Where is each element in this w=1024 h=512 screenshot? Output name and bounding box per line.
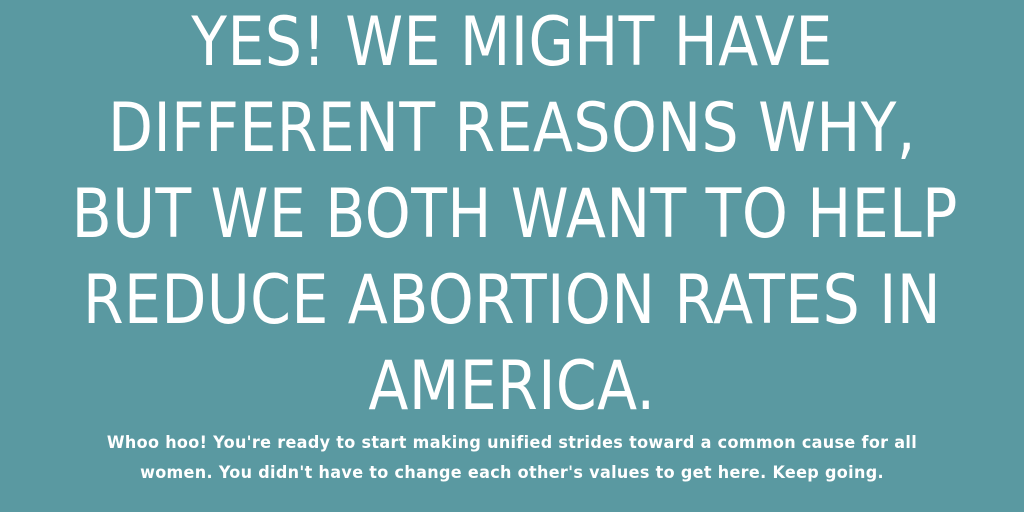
headline-line-1: YES! WE MIGHT HAVE [72,0,953,86]
quote-card: YES! WE MIGHT HAVE DIFFERENT REASONS WHY… [0,0,1024,512]
headline-line-5: AMERICA. [72,344,953,430]
headline-line-3: BUT WE BOTH WANT TO HELP [72,172,953,258]
headline-line-2: DIFFERENT REASONS WHY, [72,86,953,172]
headline: YES! WE MIGHT HAVE DIFFERENT REASONS WHY… [0,0,1024,430]
headline-line-4: REDUCE ABORTION RATES IN [72,258,953,344]
body-copy-line-1: Whoo hoo! You're ready to start making u… [15,428,1008,458]
body-copy: Whoo hoo! You're ready to start making u… [0,428,1024,488]
body-copy-line-2: women. You didn't have to change each ot… [15,458,1008,488]
